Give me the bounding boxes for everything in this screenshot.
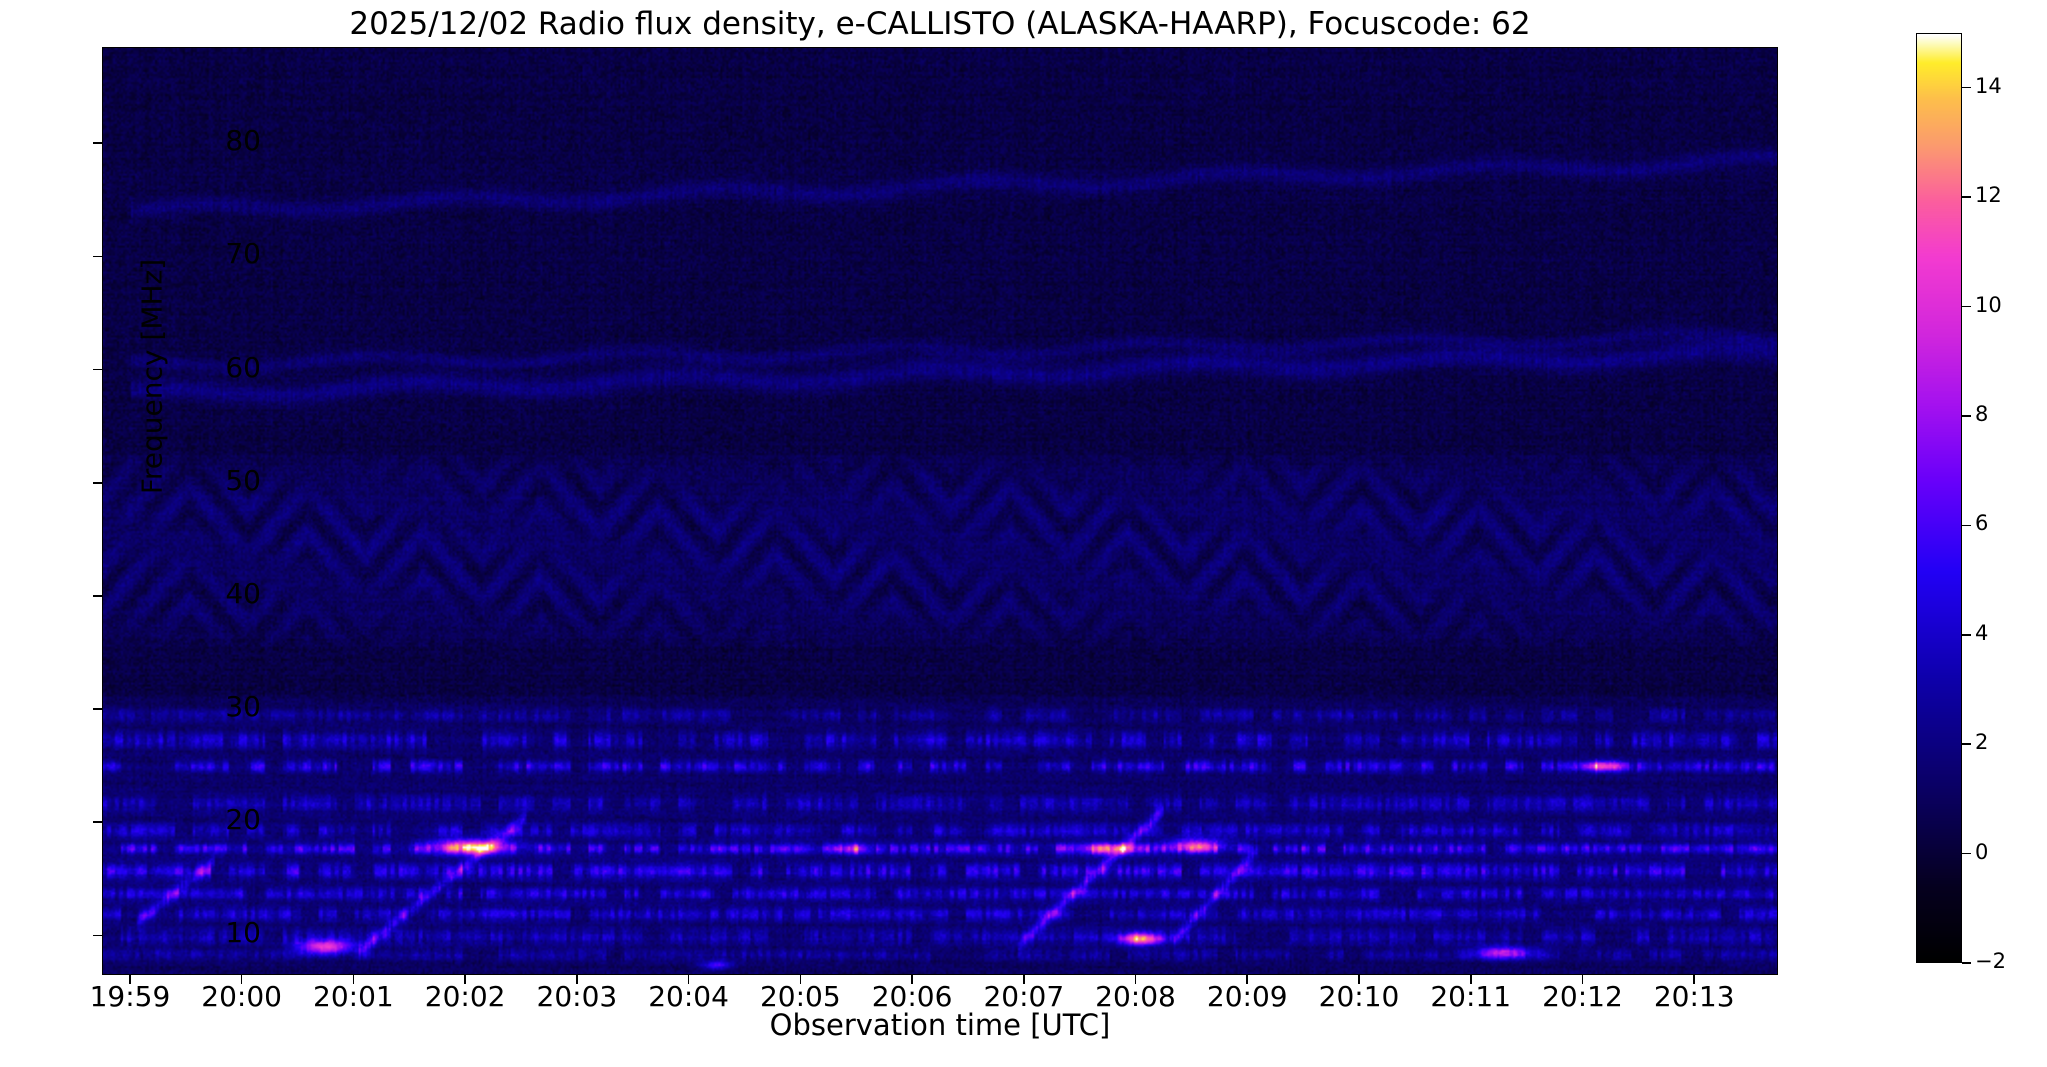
y-axis-label: Frequency [MHz] [136,217,169,537]
x-tick-mark [1135,975,1137,984]
x-tick-label: 20:03 [517,980,637,1013]
x-tick-mark [129,975,131,984]
x-tick-mark [911,975,913,984]
x-tick-label: 20:13 [1634,980,1754,1013]
x-tick-label: 20:10 [1299,980,1419,1013]
y-tick-label: 70 [225,237,261,270]
x-tick-mark [800,975,802,984]
x-axis-label: Observation time [UTC] [102,1008,1778,1042]
x-tick-label: 20:11 [1411,980,1531,1013]
x-tick-mark [464,975,466,984]
spectrogram-heatmap [103,48,1777,974]
y-tick-mark [93,482,102,484]
colorbar-tick-label: 4 [1975,621,1988,645]
colorbar-tick-mark [1962,525,1971,527]
spectrogram-axes [102,47,1778,975]
spectrogram-figure: 2025/12/02 Radio flux density, e-CALLIST… [0,0,2047,1067]
y-tick-label: 10 [225,916,261,949]
colorbar-tick-mark [1962,415,1971,417]
y-tick-label: 40 [225,577,261,610]
colorbar-tick-label: 6 [1975,511,1988,535]
page-title: 2025/12/02 Radio flux density, e-CALLIST… [102,6,1778,42]
colorbar-tick-label: 10 [1975,293,2002,317]
y-tick-mark [93,708,102,710]
y-tick-mark [93,595,102,597]
y-tick-label: 30 [225,690,261,723]
y-tick-mark [93,369,102,371]
x-tick-label: 20:06 [852,980,972,1013]
colorbar-tick-mark [1962,87,1971,89]
colorbar-tick-mark [1962,853,1971,855]
colorbar [1916,33,1962,963]
colorbar-tick-label: 0 [1975,840,1988,864]
colorbar-tick-label: 8 [1975,402,1988,426]
y-tick-label: 60 [225,351,261,384]
x-tick-mark [1246,975,1248,984]
x-tick-mark [688,975,690,984]
colorbar-tick-label: −2 [1975,949,2006,973]
y-tick-label: 20 [225,803,261,836]
x-tick-mark [1693,975,1695,984]
colorbar-tick-mark [1962,306,1971,308]
y-tick-mark [93,142,102,144]
colorbar-gradient [1917,34,1961,962]
x-tick-mark [1470,975,1472,984]
y-tick-label: 50 [225,464,261,497]
x-tick-label: 20:02 [405,980,525,1013]
x-tick-mark [353,975,355,984]
x-tick-label: 20:05 [740,980,860,1013]
y-tick-mark [93,256,102,258]
colorbar-tick-mark [1962,743,1971,745]
colorbar-tick-mark [1962,196,1971,198]
x-tick-label: 20:01 [293,980,413,1013]
x-tick-mark [576,975,578,984]
x-tick-label: 20:00 [182,980,302,1013]
x-tick-label: 19:59 [70,980,190,1013]
x-tick-label: 20:04 [629,980,749,1013]
x-tick-mark [241,975,243,984]
y-tick-mark [93,821,102,823]
colorbar-tick-label: 2 [1975,730,1988,754]
colorbar-tick-label: 14 [1975,74,2002,98]
colorbar-tick-label: 12 [1975,183,2002,207]
y-tick-label: 80 [225,124,261,157]
colorbar-tick-mark [1962,962,1971,964]
x-tick-mark [1358,975,1360,984]
x-tick-label: 20:09 [1187,980,1307,1013]
x-tick-mark [1023,975,1025,984]
x-tick-mark [1582,975,1584,984]
x-tick-label: 20:07 [964,980,1084,1013]
y-tick-mark [93,935,102,937]
colorbar-tick-mark [1962,634,1971,636]
x-tick-label: 20:08 [1076,980,1196,1013]
x-tick-label: 20:12 [1522,980,1642,1013]
